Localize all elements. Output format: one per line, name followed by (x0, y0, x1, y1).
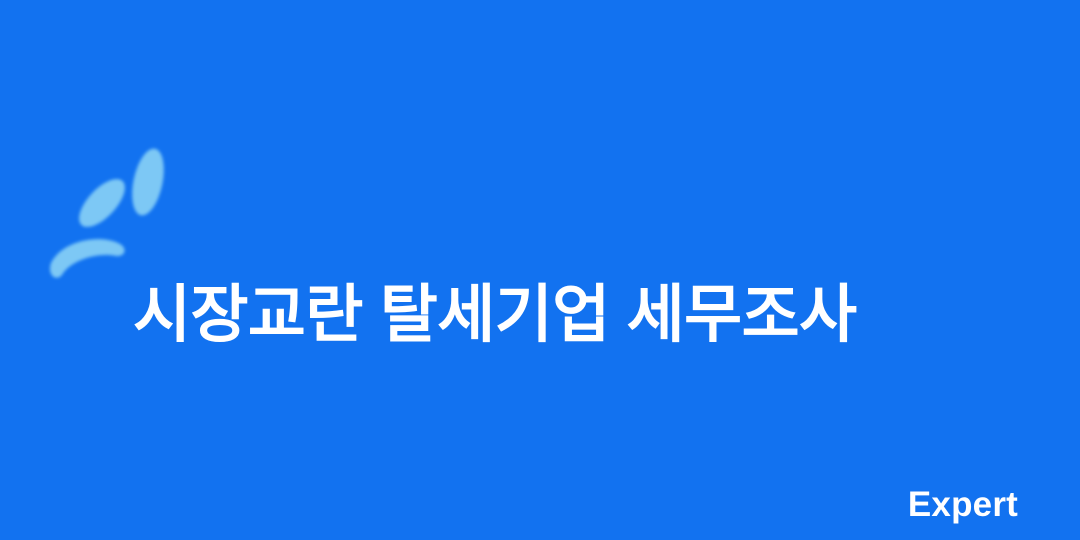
page-title: 시장교란 탈세기업 세무조사 (133, 270, 1013, 360)
title-card: 시장교란 탈세기업 세무조사 Expert (0, 0, 1080, 540)
brand-wordmark: Expert (908, 487, 1018, 522)
brush-stroke-middle-diagonal (71, 172, 132, 235)
brush-stroke-upper-right (127, 146, 170, 219)
brush-stroke-lower-crescent (50, 239, 125, 278)
